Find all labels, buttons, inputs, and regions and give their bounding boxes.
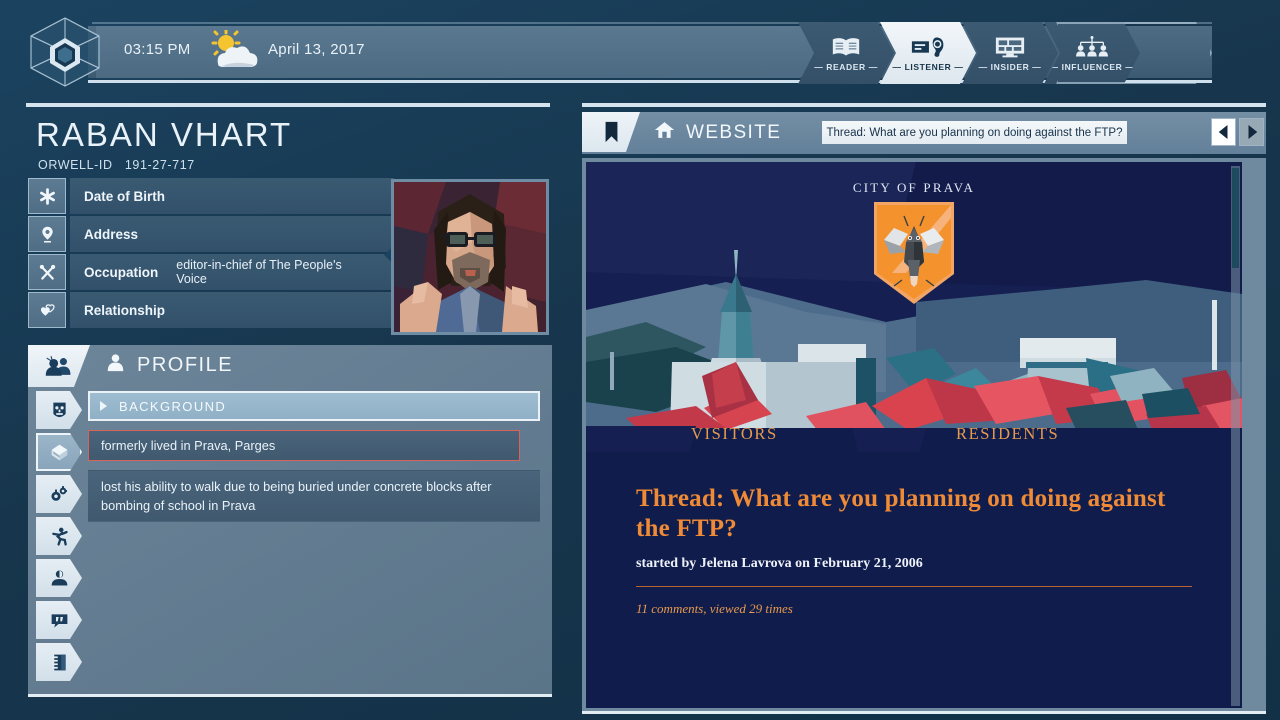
ledger-notebook-icon[interactable] <box>36 643 82 681</box>
person-silhouette-icon[interactable] <box>36 559 82 597</box>
website-title: WEBSITE <box>654 120 781 146</box>
profile-section-header[interactable]: BACKGROUND <box>88 391 540 421</box>
article-title: Thread: What are you planning on doing a… <box>636 484 1192 544</box>
url-bar[interactable]: Thread: What are you planning on doing a… <box>822 121 1127 144</box>
info-label-address: Address <box>84 227 138 242</box>
person-info-block: Date of Birth Address <box>28 178 550 336</box>
two-people-icon[interactable] <box>28 345 90 387</box>
info-field-relationship: Relationship <box>70 292 394 328</box>
website-page: CITY OF PRAVA <box>586 162 1242 708</box>
website-scrollbar[interactable] <box>1231 166 1240 706</box>
orwell-id-value: 191-27-717 <box>125 158 195 172</box>
org-chart-people-icon <box>1075 35 1109 59</box>
sun-behind-cloud-icon <box>204 30 266 72</box>
profile-card: PROFILE <box>28 345 552 697</box>
prava-bat-crest-icon <box>870 198 958 308</box>
clock-time: 03:15 PM <box>124 41 191 58</box>
level-tab-insider[interactable]: — INSIDER — <box>962 22 1058 84</box>
asterisk-icon <box>28 178 66 214</box>
info-row-relationship[interactable]: Relationship <box>28 292 394 328</box>
info-label-date-of-birth: Date of Birth <box>84 189 165 204</box>
banner-link-visitors[interactable]: VISITORS <box>691 424 778 444</box>
city-banner-label: CITY OF PRAVA <box>586 180 1242 196</box>
current-date: April 13, 2017 <box>268 41 365 58</box>
info-value-occupation: editor-in-chief of The People's Voice <box>176 258 366 286</box>
person-icon <box>106 353 125 378</box>
ear-listening-icon <box>910 35 946 59</box>
home-icon[interactable] <box>654 120 675 146</box>
level-tab-insider-label: — INSIDER — <box>979 62 1042 72</box>
book-icon[interactable] <box>36 433 82 471</box>
face-mask-icon[interactable] <box>36 391 82 429</box>
article-stats: 11 comments, viewed 29 times <box>636 601 1192 617</box>
tools-icon <box>28 254 66 290</box>
orwell-id: ORWELL-ID 191-27-717 <box>38 158 195 172</box>
website-panel: WEBSITE Thread: What are you planning on… <box>568 100 1280 720</box>
article-divider <box>636 586 1192 587</box>
website-scrollbar-thumb[interactable] <box>1232 168 1239 268</box>
top-bar: 03:15 PM April 13, 2017 <box>0 0 1280 100</box>
level-tab-listener-label: — LISTENER — <box>893 62 964 72</box>
profile-entries: BACKGROUND formerly lived in Prava, Parg… <box>88 391 540 531</box>
orwell-app-window: 03:15 PM April 13, 2017 <box>0 0 1280 720</box>
info-field-address: Address <box>70 216 394 252</box>
open-book-icon <box>830 35 862 59</box>
info-row-date-of-birth[interactable]: Date of Birth <box>28 178 394 214</box>
level-tab-influencer-label: — INFLUENCER — <box>1050 62 1135 72</box>
person-info-rows: Date of Birth Address <box>28 178 394 330</box>
running-person-icon[interactable] <box>36 517 82 555</box>
website-nav-buttons <box>1211 118 1264 146</box>
person-panel: RABAN VHART ORWELL-ID 191-27-717 Date of… <box>0 100 566 720</box>
hearts-icon <box>28 292 66 328</box>
avatar <box>391 179 549 335</box>
level-tab-listener[interactable]: — LISTENER — <box>880 22 976 84</box>
person-panel-top-divider <box>26 103 550 107</box>
level-tab-reader-label: — READER — <box>814 62 878 72</box>
info-label-relationship: Relationship <box>84 303 165 318</box>
info-row-address[interactable]: Address <box>28 216 394 252</box>
location-pin-icon <box>28 216 66 252</box>
datachunk[interactable]: lost his ability to walk due to being bu… <box>88 470 540 522</box>
level-tab-reader[interactable]: — READER — <box>798 22 894 84</box>
info-row-occupation[interactable]: Occupation editor-in-chief of The People… <box>28 254 394 290</box>
info-field-occupation: Occupation editor-in-chief of The People… <box>70 254 394 290</box>
page-title: RABAN VHART <box>36 116 292 154</box>
website-panel-top-divider <box>582 103 1266 107</box>
caret-right-icon <box>100 401 107 411</box>
website-viewport: CITY OF PRAVA <box>582 158 1266 714</box>
profile-title: PROFILE <box>106 353 233 378</box>
banner-link-residents[interactable]: RESIDENTS <box>956 424 1059 444</box>
datachunk-flagged[interactable]: formerly lived in Prava, Parges <box>88 430 520 461</box>
gears-icon[interactable] <box>36 475 82 513</box>
city-banner: CITY OF PRAVA <box>586 162 1242 452</box>
profile-section-header-label: BACKGROUND <box>119 399 226 414</box>
nav-prev-button[interactable] <box>1211 118 1236 146</box>
orwell-id-label: ORWELL-ID <box>38 158 113 172</box>
info-field-date-of-birth: Date of Birth <box>70 178 394 214</box>
level-tab-influencer[interactable]: — INFLUENCER — <box>1044 22 1140 84</box>
nav-next-button[interactable] <box>1239 118 1264 146</box>
level-tabs: — READER — — LISTENER — <box>812 22 1140 84</box>
profile-body: BACKGROUND formerly lived in Prava, Parg… <box>28 389 552 697</box>
orwell-hexagon-logo-icon <box>24 14 106 90</box>
article: Thread: What are you planning on doing a… <box>586 452 1242 617</box>
profile-header: PROFILE <box>28 345 552 389</box>
website-toolbar: WEBSITE Thread: What are you planning on… <box>582 112 1266 154</box>
article-byline: started by Jelena Lavrova on February 21… <box>636 556 1192 572</box>
speech-bubble-quote-icon[interactable] <box>36 601 82 639</box>
monitor-screen-icon <box>994 35 1026 59</box>
profile-title-label: PROFILE <box>137 354 233 377</box>
profile-category-rail <box>36 391 88 685</box>
info-label-occupation: Occupation <box>84 265 158 280</box>
website-title-label: WEBSITE <box>686 122 781 144</box>
